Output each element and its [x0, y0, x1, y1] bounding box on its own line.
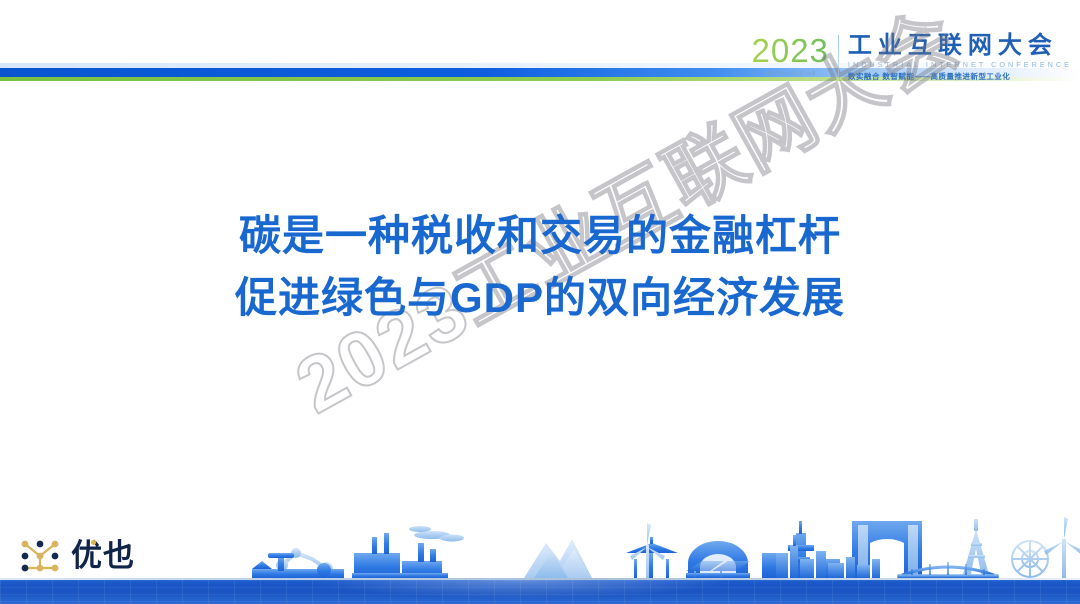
presentation-slide: 2023 中国·苏州 9月14日-15日 工业互联网大会 INDUSTRIAL …: [0, 0, 1080, 604]
conference-slogan: 数实融合 数智赋能——高质量推进新型工业化: [848, 71, 1072, 82]
conference-title-en: INDUSTRIAL INTERNET CONFERENCE: [848, 60, 1072, 70]
city-skyline-right-icon: [0, 509, 1080, 581]
page-title: 碳是一种税收和交易的金融杠杆 促进绿色与GDP的双向经济发展: [0, 205, 1080, 329]
water-glow: [0, 580, 1080, 604]
title-line-2: 促进绿色与GDP的双向经济发展: [0, 267, 1080, 329]
conference-year: 2023: [751, 34, 828, 68]
brand-name-text: 优也: [71, 538, 135, 573]
brand-name: 优也: [71, 539, 135, 573]
conference-logo: 2023 中国·苏州 9月14日-15日 工业互联网大会 INDUSTRIAL …: [751, 33, 1072, 82]
brand-logo: 优也: [18, 532, 135, 580]
title-line-1: 碳是一种税收和交易的金融杠杆: [0, 205, 1080, 267]
brand-accent-dot: [91, 540, 96, 545]
conference-title-cn: 工业互联网大会: [848, 33, 1072, 59]
conference-place-date: 中国·苏州 9月14日-15日: [752, 70, 828, 77]
network-dots-icon: [18, 536, 64, 576]
conference-logo-year-block: 2023 中国·苏州 9月14日-15日: [751, 33, 837, 77]
conference-logo-title-block: 工业互联网大会 INDUSTRIAL INTERNET CONFERENCE 数…: [839, 33, 1072, 82]
footer-decoration: [0, 509, 1080, 604]
